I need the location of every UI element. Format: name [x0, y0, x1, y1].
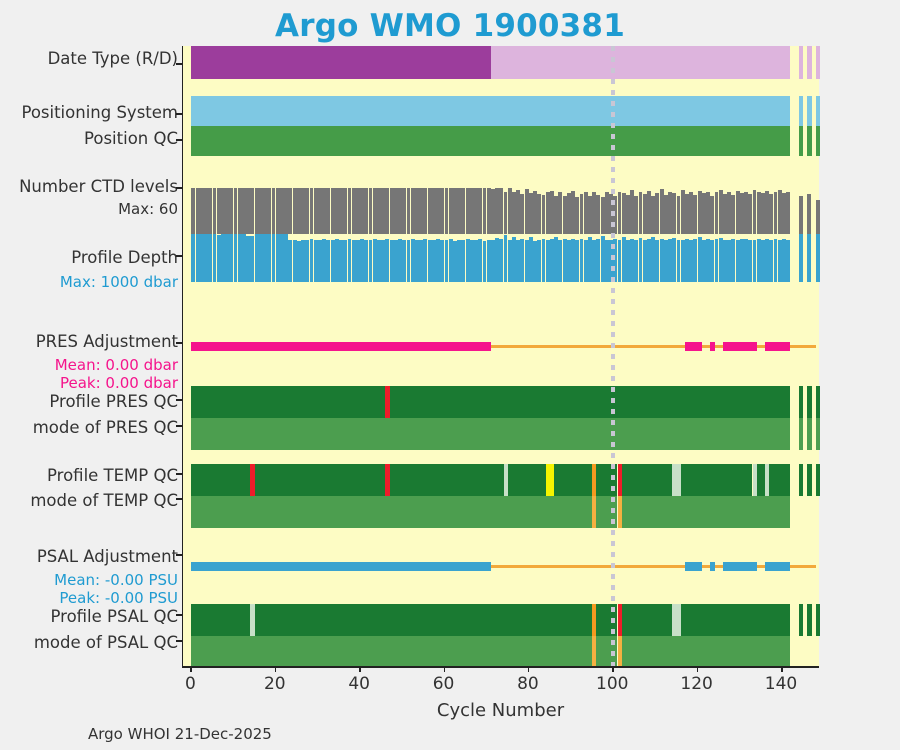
x-tick	[359, 666, 361, 672]
adjustment-segment	[685, 342, 702, 351]
segment	[191, 96, 790, 126]
segment	[807, 386, 811, 418]
segment	[390, 386, 791, 418]
pres-mean-label: Mean: 0.00 dbar	[55, 357, 178, 373]
segment	[491, 46, 791, 79]
x-tick	[697, 666, 699, 672]
bar	[786, 240, 790, 282]
x-tick	[275, 666, 277, 672]
panel-mode-of-temp-qc	[183, 496, 820, 528]
segment	[799, 418, 803, 450]
panel-positioning-system	[183, 96, 820, 126]
y-tick	[176, 554, 182, 556]
segment	[255, 604, 592, 636]
segment	[816, 418, 820, 450]
panel-pres-adjustment	[183, 331, 820, 361]
psal-adjustment-label: PSAL Adjustment	[37, 548, 178, 566]
pres-peak-label: Peak: 0.00 dbar	[60, 375, 178, 391]
bar	[799, 234, 803, 282]
segment	[757, 464, 765, 496]
segment	[816, 46, 820, 79]
plot-area	[182, 46, 819, 666]
adjustment-segment	[685, 562, 702, 571]
y-tick	[176, 113, 182, 115]
segment	[799, 96, 803, 126]
adjustment-segment	[765, 342, 790, 351]
segment	[816, 126, 820, 156]
mode-of-psal-qc-label: mode of PSAL QC	[34, 634, 178, 652]
bar	[799, 196, 803, 234]
segment	[191, 604, 250, 636]
date-type-label: Date Type (R/D)	[48, 50, 178, 68]
bar	[807, 234, 811, 282]
x-tick-label: 100	[596, 674, 628, 694]
bar	[816, 234, 820, 282]
psal-peak-label: Peak: -0.00 PSU	[59, 590, 178, 606]
panel-position-qc	[183, 126, 820, 156]
panel-profile-psal-qc	[183, 604, 820, 636]
x-tick	[781, 666, 783, 672]
y-tick	[176, 139, 182, 141]
profile-depth-label: Profile Depth	[71, 249, 178, 267]
segment	[807, 46, 811, 79]
segment	[622, 496, 791, 528]
panel-mode-of-pres-qc	[183, 418, 820, 450]
panel-mode-of-psal-qc	[183, 636, 820, 668]
bar	[786, 192, 790, 234]
segment	[508, 464, 546, 496]
segment	[191, 636, 592, 668]
segment	[807, 604, 811, 636]
panel-date-type-r-d	[183, 46, 820, 79]
mode-of-pres-qc-label: mode of PRES QC	[33, 419, 178, 437]
panel-profile-depth	[183, 234, 820, 282]
adjustment-segment	[191, 342, 491, 351]
segment	[546, 464, 554, 496]
adjustment-segment	[710, 562, 714, 571]
segment	[799, 464, 803, 496]
segment	[622, 636, 791, 668]
segment	[191, 46, 491, 79]
adjustment-segment	[765, 562, 790, 571]
y-tick	[176, 255, 182, 257]
segment	[769, 464, 790, 496]
segment	[672, 464, 680, 496]
segment	[816, 464, 820, 496]
y-tick	[176, 63, 182, 65]
adjustment-segment	[723, 562, 757, 571]
segment	[816, 604, 820, 636]
mode-of-temp-qc-label: mode of TEMP QC	[30, 492, 178, 510]
y-tick	[176, 399, 182, 401]
page-title: Argo WMO 1900381	[0, 8, 900, 44]
x-tick-label: 80	[517, 674, 539, 694]
segment	[799, 46, 803, 79]
panel-profile-pres-qc	[183, 386, 820, 418]
segment	[807, 464, 811, 496]
segment	[390, 464, 504, 496]
segment	[816, 96, 820, 126]
segment	[191, 418, 790, 450]
y-tick	[176, 187, 182, 189]
segment	[622, 604, 673, 636]
x-tick	[444, 666, 446, 672]
x-tick-label: 20	[264, 674, 286, 694]
segment	[799, 126, 803, 156]
segment	[622, 464, 673, 496]
profile-pres-qc-label: Profile PRES QC	[49, 393, 178, 411]
y-tick	[176, 614, 182, 616]
segment	[191, 126, 790, 156]
credit-text: Argo WHOI 21-Dec-2025	[88, 725, 272, 743]
number-ctd-levels-label: Number CTD levels	[19, 178, 178, 196]
adjustment-segment	[710, 342, 714, 351]
adjustment-segment	[723, 342, 757, 351]
profile-temp-qc-label: Profile TEMP QC	[47, 467, 178, 485]
segment	[255, 464, 386, 496]
segment	[816, 386, 820, 418]
x-tick-label: 120	[680, 674, 712, 694]
bar	[816, 200, 820, 234]
x-tick-label: 40	[348, 674, 370, 694]
y-tick	[176, 473, 182, 475]
y-tick	[176, 640, 182, 642]
segment	[191, 496, 592, 528]
x-tick	[612, 666, 614, 672]
segment	[554, 464, 592, 496]
segment	[807, 96, 811, 126]
panel-number-ctd-levels	[183, 186, 820, 234]
segment	[807, 126, 811, 156]
y-tick	[176, 342, 182, 344]
cycle-marker-line	[611, 46, 615, 666]
x-tick	[190, 666, 192, 672]
y-tick	[176, 498, 182, 500]
segment	[191, 386, 385, 418]
segment	[681, 604, 791, 636]
profile-depth-max-label: Max: 1000 dbar	[60, 274, 178, 290]
segment	[191, 464, 250, 496]
adjustment-segment	[191, 562, 491, 571]
ctd-max-label: Max: 60	[118, 201, 178, 217]
psal-mean-label: Mean: -0.00 PSU	[54, 572, 178, 588]
profile-psal-qc-label: Profile PSAL QC	[50, 608, 178, 626]
segment	[799, 386, 803, 418]
argo-summary-figure: Argo WMO 1900381 Date Type (R/D)Position…	[0, 0, 900, 750]
position-qc-label: Position QC	[84, 130, 178, 148]
positioning-system-label: Positioning System	[21, 104, 178, 122]
segment	[681, 464, 753, 496]
y-tick	[176, 425, 182, 427]
segment	[807, 418, 811, 450]
segment	[799, 604, 803, 636]
x-axis-label: Cycle Number	[182, 700, 819, 721]
bar	[807, 194, 811, 234]
panel-psal-adjustment	[183, 551, 820, 581]
x-axis-line	[182, 666, 819, 668]
x-tick-label: 60	[433, 674, 455, 694]
x-tick-label: 140	[765, 674, 797, 694]
panel-profile-temp-qc	[183, 464, 820, 496]
segment	[672, 604, 680, 636]
x-tick-label: 0	[185, 674, 196, 694]
pres-adjustment-label: PRES Adjustment	[36, 333, 178, 351]
x-tick	[528, 666, 530, 672]
